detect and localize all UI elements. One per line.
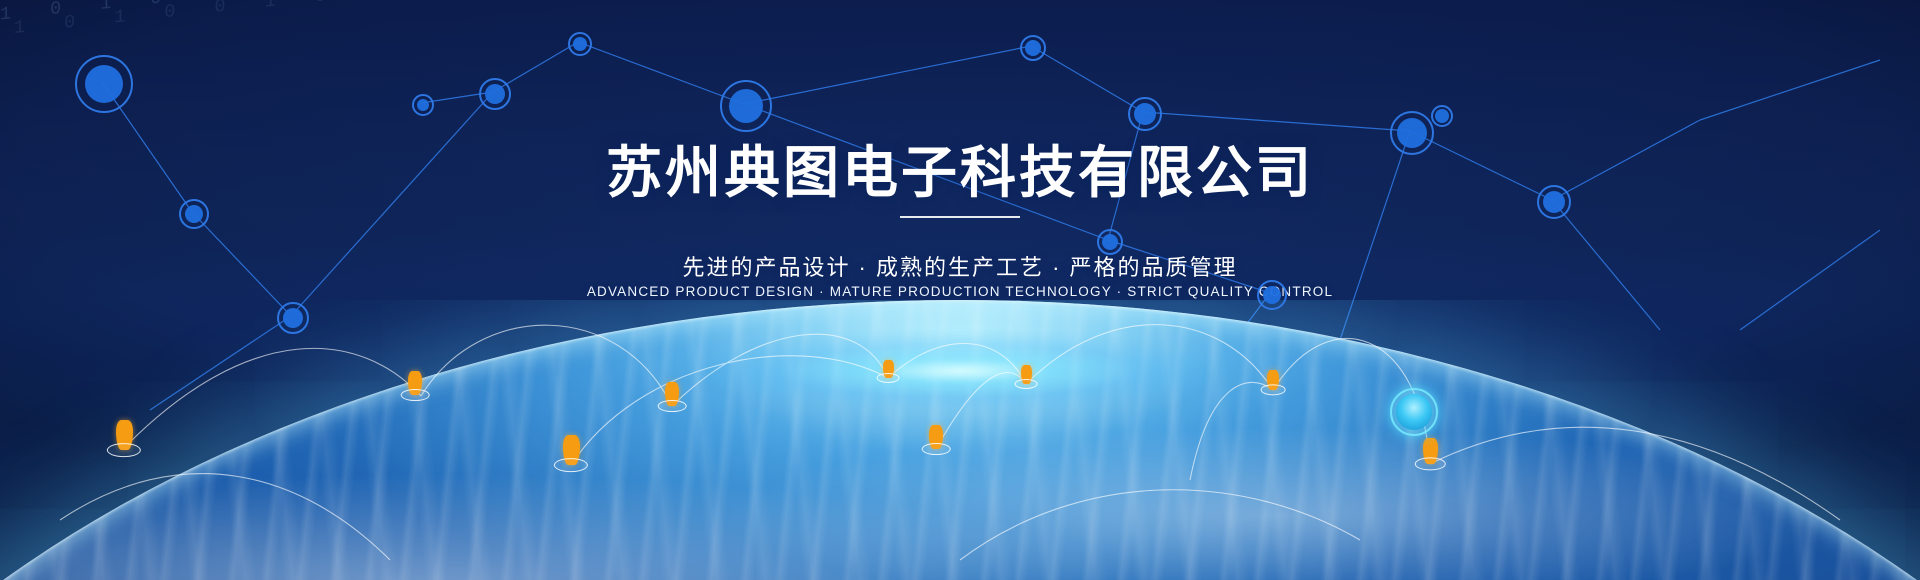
net-line: [1031, 46, 1143, 112]
node-8-ring-icon: [1020, 35, 1046, 61]
title-divider: [900, 216, 1020, 218]
pin-4-base-ellipse-icon: [658, 400, 687, 412]
node-2-ring-icon: [179, 199, 209, 229]
glow-ring-node-icon: [1390, 388, 1438, 436]
node-12-ring-icon: [1390, 111, 1434, 155]
pin-1[interactable]: [116, 420, 133, 450]
node-7-ring-icon: [720, 80, 772, 132]
pin-7-base-ellipse-icon: [1015, 379, 1038, 389]
pin-8-base-ellipse-icon: [1261, 385, 1286, 396]
node-9-ring-icon: [1097, 229, 1123, 255]
earth-globe: [0, 300, 1920, 580]
node-8-dot-icon: [1025, 40, 1041, 56]
node-6-ring-icon: [568, 32, 592, 56]
node-13-dot-icon: [1435, 109, 1449, 123]
node-5-ring-icon: [479, 78, 511, 110]
glow-ring-node-core-icon: [1396, 394, 1432, 430]
pin-5[interactable]: [883, 360, 894, 378]
node-10-ring-icon: [1128, 97, 1162, 131]
pin-9-base-ellipse-icon: [1415, 458, 1446, 471]
node-11-dot-icon: [1263, 286, 1281, 304]
node-11-ring-icon: [1257, 280, 1287, 310]
node-1-ring-icon: [75, 55, 133, 113]
net-line: [578, 42, 744, 104]
net-line: [1700, 60, 1880, 120]
slogan-chinese: 先进的产品设计 · 成熟的生产工艺 · 严格的品质管理: [0, 250, 1920, 282]
node-3-dot-icon: [283, 308, 303, 328]
pin-6-base-ellipse-icon: [922, 443, 951, 455]
node-1-dot-icon: [85, 65, 123, 103]
pin-5-base-ellipse-icon: [877, 373, 900, 383]
pin-9[interactable]: [1423, 438, 1438, 464]
pin-2-base-ellipse-icon: [401, 389, 430, 401]
pin-6[interactable]: [929, 425, 943, 449]
pin-4[interactable]: [665, 382, 679, 406]
net-line: [744, 46, 1031, 104]
node-9-dot-icon: [1102, 234, 1118, 250]
node-13-ring-icon: [1431, 105, 1453, 127]
node-14-ring-icon: [1537, 185, 1571, 219]
pin-2[interactable]: [408, 371, 422, 395]
page-title: 苏州典图电子科技有限公司: [0, 128, 1920, 209]
node-2-dot-icon: [185, 205, 203, 223]
node-3-ring-icon: [277, 302, 309, 334]
node-10-dot-icon: [1134, 103, 1156, 125]
node-14-dot-icon: [1543, 191, 1565, 213]
node-4-ring-icon: [412, 94, 434, 116]
pin-8[interactable]: [1267, 370, 1279, 390]
node-7-dot-icon: [729, 89, 763, 123]
pin-7[interactable]: [1021, 365, 1032, 384]
hero-banner: 1 0 1 0 0 1 0 1 1 0 1 0 0 1 0 1 0 1 1 0 …: [0, 0, 1920, 580]
slogan-english: ADVANCED PRODUCT DESIGN · MATURE PRODUCT…: [0, 284, 1920, 299]
node-5-dot-icon: [485, 84, 505, 104]
node-4-dot-icon: [417, 99, 429, 111]
globe-horizon-glow: [580, 316, 1340, 426]
pin-3[interactable]: [563, 435, 580, 465]
node-6-dot-icon: [573, 37, 587, 51]
node-12-dot-icon: [1397, 118, 1427, 148]
